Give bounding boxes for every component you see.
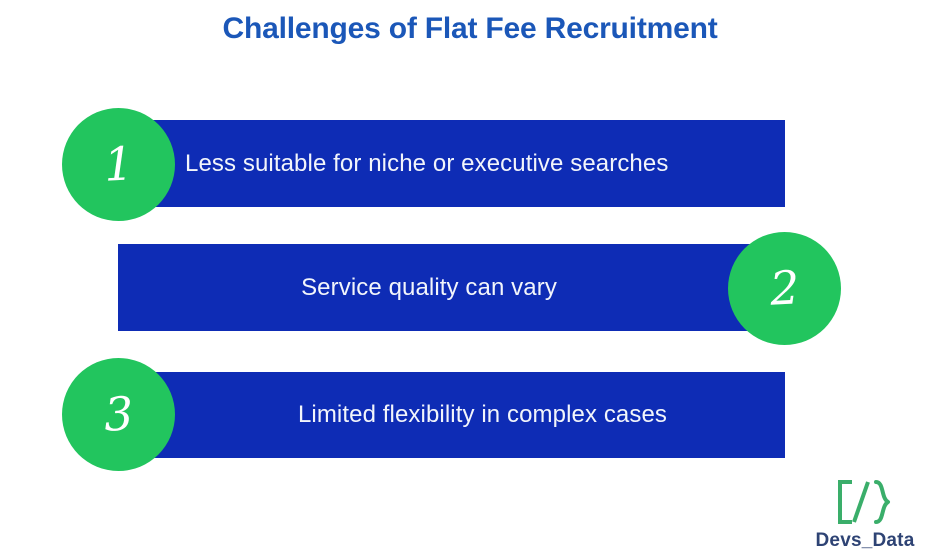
code-bracket-slash-icon xyxy=(832,478,898,526)
challenge-badge-1: 1 xyxy=(62,108,175,221)
brand-logo: Devs_Data xyxy=(790,478,940,558)
challenge-text-2: Service quality can vary xyxy=(301,276,557,300)
infographic-canvas: Challenges of Flat Fee Recruitment Less … xyxy=(0,0,940,560)
challenge-row-3: Limited flexibility in complex cases 3 xyxy=(0,353,940,473)
challenge-row-2: Service quality can vary 2 xyxy=(0,228,940,348)
challenge-badge-3: 3 xyxy=(62,358,175,471)
challenge-bar-1: Less suitable for niche or executive sea… xyxy=(110,120,785,207)
challenge-badge-2: 2 xyxy=(728,232,841,345)
challenge-number-3: 3 xyxy=(103,390,135,437)
challenge-text-1: Less suitable for niche or executive sea… xyxy=(185,152,668,176)
challenge-bar-3: Limited flexibility in complex cases xyxy=(110,372,785,458)
page-title: Challenges of Flat Fee Recruitment xyxy=(0,12,940,46)
challenge-row-1: Less suitable for niche or executive sea… xyxy=(0,100,940,220)
challenge-number-1: 1 xyxy=(103,140,135,187)
brand-name: Devs_Data xyxy=(790,530,940,552)
challenge-bar-2: Service quality can vary xyxy=(118,244,795,331)
challenge-number-2: 2 xyxy=(769,264,801,311)
challenge-text-3: Limited flexibility in complex cases xyxy=(298,403,667,427)
